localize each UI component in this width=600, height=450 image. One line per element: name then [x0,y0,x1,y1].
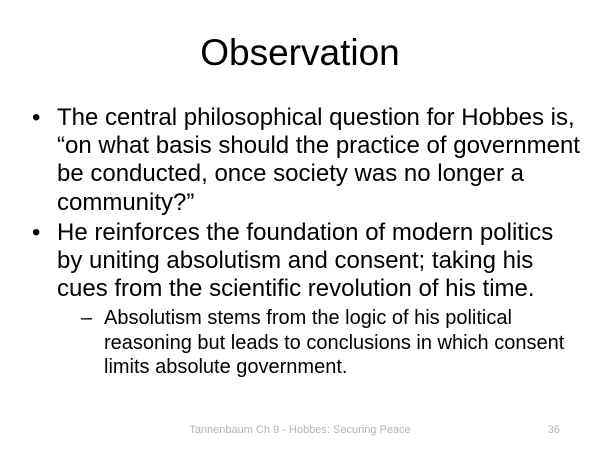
list-item-text: The central philosophical question for H… [57,104,580,216]
slide-body: • The central philosophical question for… [26,104,582,379]
slide: Observation • The central philosophical … [0,0,600,450]
sub-list-item-text: Absolutism stems from the logic of his p… [104,307,564,377]
page-title: Observation [0,30,600,76]
slide-footer: Tannenbaum Ch 9 - Hobbes: Securing Peace [0,423,600,437]
list-item-text: He reinforces the foundation of modern p… [57,219,553,302]
list-item: • He reinforces the foundation of modern… [26,219,582,304]
bullet-marker-icon: • [32,104,40,132]
page-number: 36 [548,423,560,437]
sub-list-item: – Absolutism stems from the logic of his… [80,306,582,379]
bullet-marker-icon: • [32,219,40,247]
list-item: • The central philosophical question for… [26,104,582,217]
dash-marker-icon: – [81,306,92,330]
